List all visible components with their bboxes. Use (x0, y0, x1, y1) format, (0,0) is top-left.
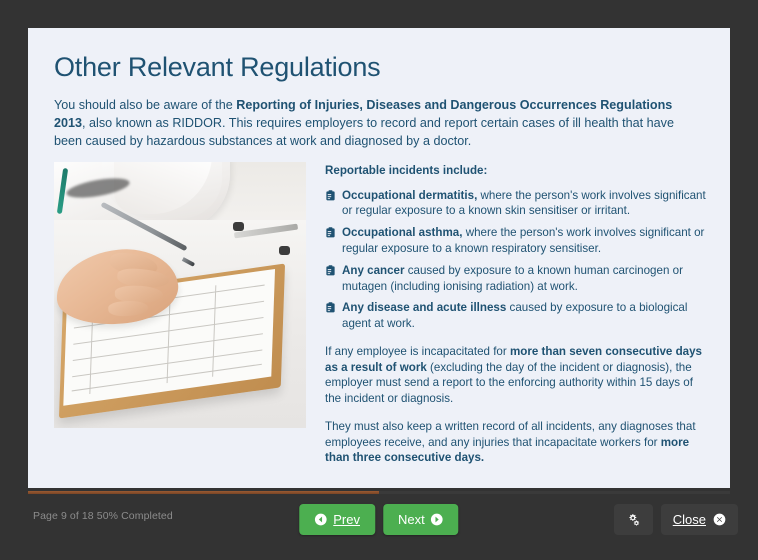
intro-pre: You should also be aware of the (54, 98, 236, 112)
list-item-bold: Occupational asthma, (342, 226, 462, 239)
settings-button[interactable] (614, 504, 653, 535)
next-button[interactable]: Next (383, 504, 459, 535)
player-controls-bar: Page 9 of 18 50% Completed Prev Next (0, 498, 758, 560)
list-item: Occupational asthma, where the person's … (325, 225, 712, 257)
page-status-text: Page 9 of 18 50% Completed (33, 510, 173, 522)
clipboard-photo (54, 162, 306, 428)
cogs-icon (626, 513, 641, 526)
para-pre: If any employee is incapacitated for (325, 345, 510, 358)
clipboard-icon (325, 190, 336, 201)
reportable-incidents-list: Occupational dermatitis, where the perso… (325, 188, 712, 332)
close-button-label: Close (673, 512, 706, 527)
clipboard-icon (325, 302, 336, 313)
arrow-right-circle-icon (431, 513, 444, 526)
para-pre: They must also keep a written record of … (325, 420, 696, 449)
intro-paragraph: You should also be aware of the Reportin… (54, 97, 702, 151)
prev-button-label: Prev (333, 512, 360, 527)
prev-button[interactable]: Prev (299, 504, 375, 535)
list-item-bold: Any disease and acute illness (342, 301, 506, 314)
list-item: Any cancer caused by exposure to a known… (325, 263, 712, 295)
list-item-bold: Any cancer (342, 264, 405, 277)
progress-bar-track[interactable] (28, 491, 730, 494)
slide-image-wrapper (54, 162, 306, 428)
clipboard-icon (325, 227, 336, 238)
slide-content: Other Relevant Regulations You should al… (54, 42, 712, 478)
page-title: Other Relevant Regulations (54, 52, 712, 83)
close-circle-icon (713, 513, 726, 526)
list-item-bold: Occupational dermatitis, (342, 189, 477, 202)
close-button[interactable]: Close (661, 504, 738, 535)
intro-post: , also known as RIDDOR. This requires em… (54, 116, 674, 148)
clipboard-icon (325, 265, 336, 276)
slide-columns: Reportable incidents include: (54, 162, 712, 478)
utility-buttons: Close (614, 504, 738, 535)
slide-canvas: Other Relevant Regulations You should al… (28, 28, 730, 488)
paragraph-records: They must also keep a written record of … (325, 419, 712, 466)
paragraph-seven-days: If any employee is incapacitated for mor… (325, 344, 712, 407)
presentation-viewer: Other Relevant Regulations You should al… (0, 0, 758, 560)
navigation-buttons: Prev Next (299, 504, 458, 535)
list-item: Occupational dermatitis, where the perso… (325, 188, 712, 220)
list-item: Any disease and acute illness caused by … (325, 300, 712, 332)
right-column: Reportable incidents include: (325, 162, 712, 478)
progress-bar-fill (28, 491, 379, 494)
arrow-left-circle-icon (314, 513, 327, 526)
next-button-label: Next (398, 512, 425, 527)
reportable-incidents-heading: Reportable incidents include: (325, 164, 712, 177)
